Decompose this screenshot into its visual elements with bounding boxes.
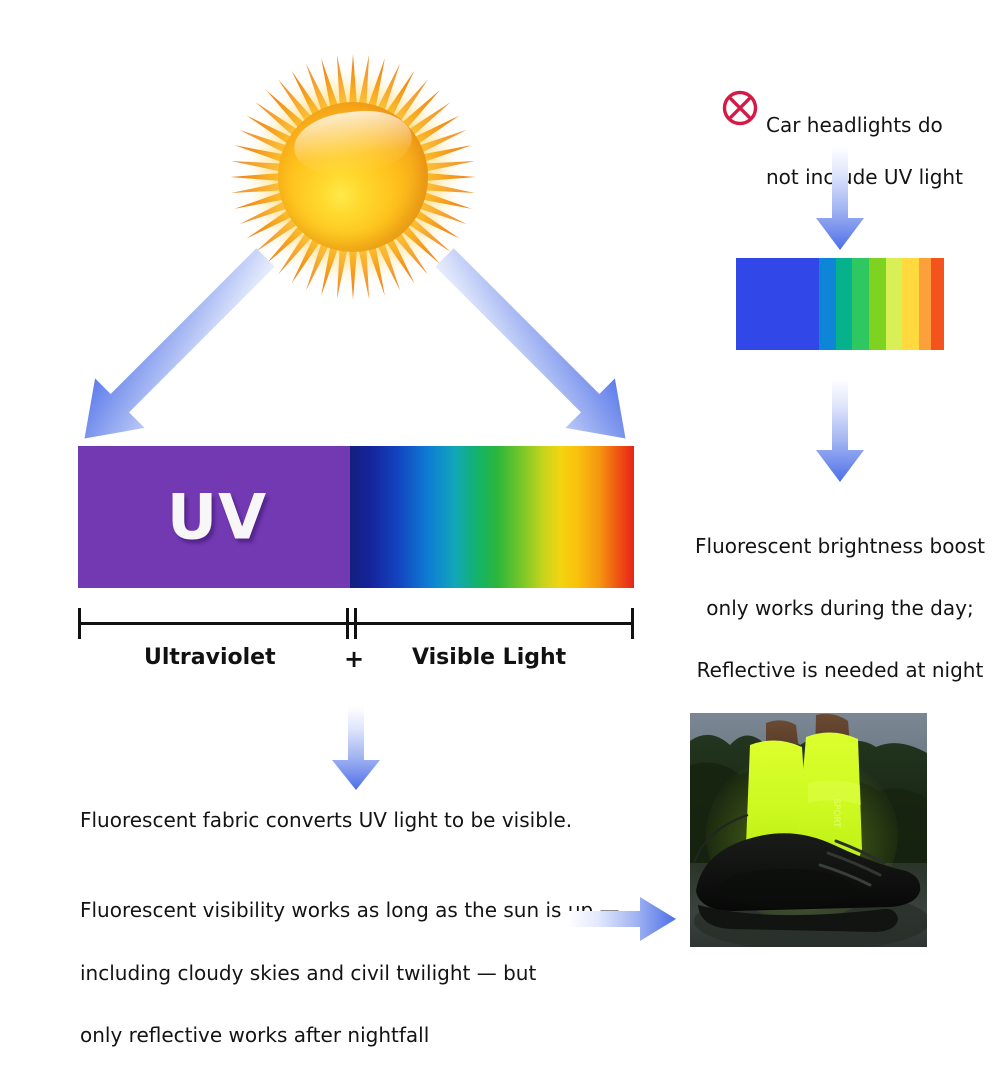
fabric-conversion-note: Fluorescent fabric converts UV light to … — [80, 806, 572, 834]
daylight-note-line3: only reflective works after nightfall — [80, 1020, 620, 1051]
label-ultraviolet: Ultraviolet — [144, 645, 276, 670]
headlight-band — [902, 258, 919, 350]
bracket-tick-right — [631, 608, 634, 639]
uv-label: UV — [78, 481, 350, 554]
headlight-band — [869, 258, 886, 350]
right-note-line3: Reflective is needed at night — [690, 655, 990, 686]
fluorescent-socks-photo: SPORT — [690, 713, 927, 947]
right-note-line1: Fluorescent brightness boost — [690, 531, 990, 562]
arrow-down-icon-bottom — [328, 706, 384, 790]
svg-text:SPORT: SPORT — [831, 798, 841, 828]
uv-visible-spectrum-bar: UV — [78, 446, 634, 588]
spectrum-measure-bracket — [78, 608, 634, 638]
circle-x-icon — [720, 88, 760, 128]
arrow-right-icon-photo — [568, 896, 678, 942]
daylight-note-line2: including cloudy skies and civil twiligh… — [80, 958, 620, 989]
label-plus: + — [344, 645, 364, 673]
spectrum-axis-labels: Ultraviolet + Visible Light — [78, 645, 634, 681]
visible-light-segment — [350, 446, 634, 588]
headlight-band — [819, 258, 836, 350]
arrow-diagonal-down-right-icon — [440, 248, 630, 448]
arrow-down-icon-headlight — [812, 146, 868, 250]
label-visible-light: Visible Light — [412, 645, 566, 670]
arrow-diagonal-down-left-icon — [80, 248, 270, 448]
sun-disc — [278, 102, 428, 252]
headlight-note-line1: Car headlights do — [766, 112, 963, 138]
bracket-tick-left — [78, 608, 81, 639]
daylight-visibility-note: Fluorescent visibility works as long as … — [80, 864, 620, 1082]
headlight-band — [919, 258, 931, 350]
headlight-band — [736, 258, 819, 350]
bracket-tick-mid-a — [346, 608, 349, 639]
headlight-band — [836, 258, 853, 350]
arrow-down-icon-right-note — [812, 378, 868, 482]
bracket-tick-mid-b — [354, 608, 357, 639]
infographic-canvas: UV Ultraviolet + Visible Light Car headl… — [0, 0, 1000, 1000]
right-note-line2: only works during the day; — [690, 593, 990, 624]
uv-segment: UV — [78, 446, 350, 588]
headlight-spectrum-chart — [736, 258, 944, 350]
daylight-note-line1: Fluorescent visibility works as long as … — [80, 895, 620, 926]
headlight-band — [931, 258, 943, 350]
headlight-band — [886, 258, 903, 350]
right-note: Fluorescent brightness boost only works … — [690, 500, 990, 717]
headlight-band — [852, 258, 869, 350]
